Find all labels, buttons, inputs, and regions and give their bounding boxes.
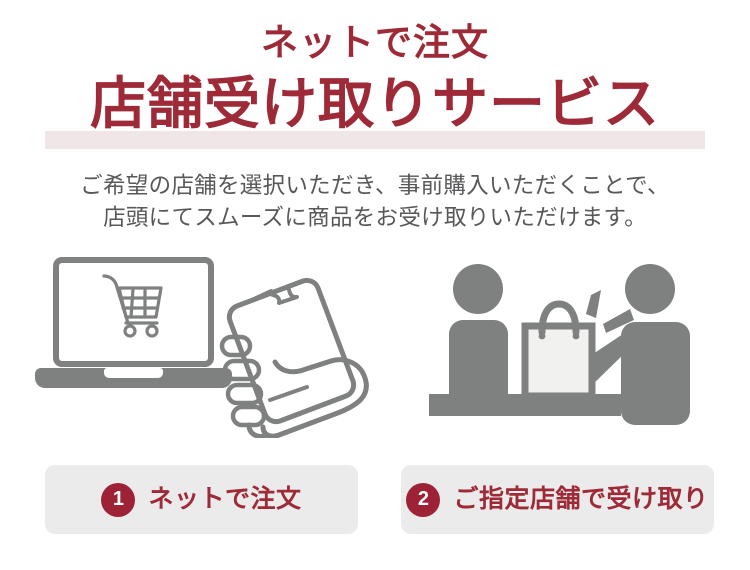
banner-title: 店舗受け取りサービス [0,76,750,132]
description-line-1: ご希望の店舗を選択いただき、事前購入いただくことで、 [0,170,750,202]
description-line-2: 店頭にてスムーズに商品をお受け取りいただけます。 [0,202,750,234]
online-order-illustration [35,248,375,438]
step-card-2-content: 2 ご指定店舗で受け取り [406,483,708,517]
step-card-2[interactable]: 2 ご指定店舗で受け取り [401,465,714,534]
banner-description: ご希望の店舗を選択いただき、事前購入いただくことで、 店頭にてスムーズに商品をお… [0,170,750,234]
step-cards: 1 ネットで注文 2 ご指定店舗で受け取り [45,465,714,534]
step-label-2: ご指定店舗で受け取り [453,487,708,512]
staff-person-icon [449,264,508,396]
shopping-cart-icon [104,276,161,336]
step-card-1-content: 1 ネットで注文 [101,483,301,517]
banner-eyebrow: ネットで注文 [0,24,750,61]
step-number-badge-2: 2 [406,483,440,517]
hand-holding-smartphone-icon [222,280,366,436]
shopping-bag-icon [525,304,592,396]
store-pickup-illustration [425,248,730,438]
step-number-badge-1: 1 [101,483,135,517]
step-label-1: ネットで注文 [148,487,301,512]
store-pickup-banner: ネットで注文 店舗受け取りサービス ご希望の店舗を選択いただき、事前購入いただく… [0,0,750,570]
banner-title-area: 店舗受け取りサービス [0,76,750,148]
step-card-1[interactable]: 1 ネットで注文 [45,465,358,534]
